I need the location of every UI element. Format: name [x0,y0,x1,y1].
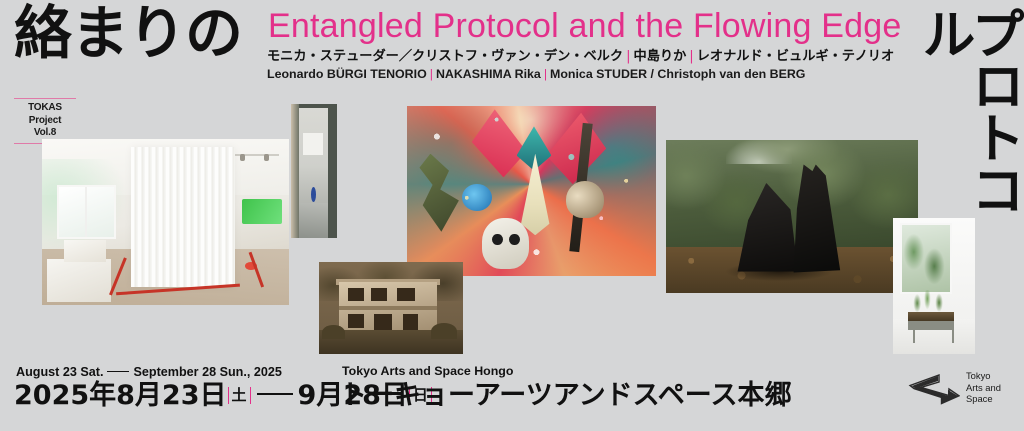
badge-line-3: Vol.8 [14,127,76,140]
tokas-logo[interactable]: Tokyo Arts and Space [908,366,1018,414]
date-start-weekday: 土 [228,387,251,404]
image-black-sculpture [666,140,918,293]
date-range-dash-japanese [257,393,293,395]
artist-jp-3: レオナルド・ビュルギ・テノリオ [697,49,894,64]
name-separator: | [686,49,696,64]
badge-line-2: Project [14,115,76,128]
poster-header: 絡まりの Entangled Protocol and the Flowing … [0,0,1024,95]
name-separator: | [541,67,550,81]
tokas-logo-line-3: Space [966,393,1001,405]
title-english: Entangled Protocol and the Flowing Edge [268,6,901,46]
name-separator: | [623,49,633,64]
venue-name-english: Tokyo Arts and Space Hongo [342,364,513,378]
artist-en-3: Monica STUDER / Christoph van den BERG [550,67,805,81]
artist-names-english: Leonardo BÜRGI TENORIO|NAKASHIMA Rika|Mo… [267,67,805,82]
date-range-dash [107,371,129,373]
badge-line-1: TOKAS [14,102,76,115]
image-ruined-building [319,262,463,354]
tokas-zigzag-icon [908,372,960,406]
date-end-english: September 28 Sun., 2025 [133,365,281,379]
image-gallery-curtain [42,139,289,305]
artist-en-2: NAKASHIMA Rika [436,67,541,81]
exhibition-dates-english: August 23 Sat.September 28 Sun., 2025 [16,365,282,379]
title-japanese: 絡まりの [14,4,242,62]
artist-en-1: Leonardo BÜRGI TENORIO [267,67,427,81]
venue-name-japanese: トーキョーアーツアンドスペース本郷 [340,381,791,411]
tokas-logo-text: Tokyo Arts and Space [966,370,1001,405]
image-doorway [291,104,337,238]
tokas-project-badge: TOKAS Project Vol.8 [14,98,76,144]
image-abstract-collage [407,106,656,276]
tokas-logo-line-1: Tokyo [966,370,1001,382]
date-start-english: August 23 Sat. [16,365,103,379]
exhibition-poster: 絡まりの Entangled Protocol and the Flowing … [0,0,1024,431]
vertical-katakana-protocol: プロトコル [944,6,1018,256]
artist-jp-1: モニカ・ステューダー／クリストフ・ヴァン・デン・ベルク [267,49,623,64]
artist-jp-2: 中島りか [634,49,687,64]
tokas-logo-line-2: Arts and [966,382,1001,394]
name-separator: | [427,67,436,81]
date-start-japanese: 2025年8月23日 [14,380,227,411]
artist-names-japanese: モニカ・ステューダー／クリストフ・ヴァン・デン・ベルク|中島りか|レオナルド・ビ… [267,49,894,65]
